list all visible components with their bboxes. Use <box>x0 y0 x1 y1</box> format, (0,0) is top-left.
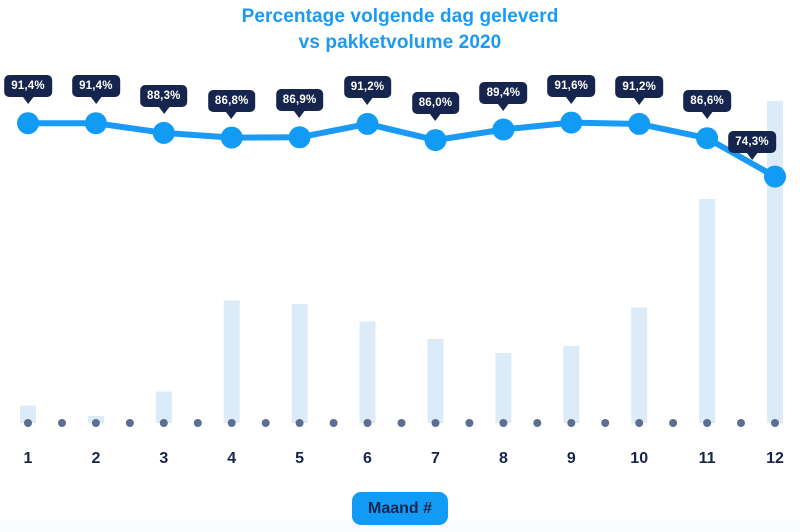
value-badge-4: 86,8% <box>208 90 256 112</box>
x-axis-title-pill[interactable]: Maand # <box>352 492 448 525</box>
x-tick-4: 4 <box>227 450 236 468</box>
value-badge-10: 91,2% <box>615 76 663 98</box>
x-tick-5: 5 <box>295 450 304 468</box>
value-badge-11: 86,6% <box>683 90 731 112</box>
x-tick-1: 1 <box>24 450 33 468</box>
value-badge-1: 91,4% <box>4 75 52 97</box>
x-tick-2: 2 <box>91 450 100 468</box>
value-badge-2: 91,4% <box>72 75 120 97</box>
value-badge-3: 88,3% <box>140 85 188 107</box>
x-tick-7: 7 <box>431 450 440 468</box>
x-axis-tick-labels: 123456789101112 <box>0 450 800 480</box>
data-label-layer: 91,4%91,4%88,3%86,8%86,9%91,2%86,0%89,4%… <box>0 0 800 445</box>
value-badge-9: 91,6% <box>547 75 595 97</box>
chart-canvas: Percentage volgende dag geleverd vs pakk… <box>0 0 800 532</box>
value-badge-6: 91,2% <box>344 76 392 98</box>
x-tick-11: 11 <box>699 450 716 468</box>
x-tick-9: 9 <box>567 450 576 468</box>
x-tick-12: 12 <box>766 450 784 468</box>
value-badge-12: 74,3% <box>728 131 776 153</box>
x-tick-6: 6 <box>363 450 372 468</box>
value-badge-5: 86,9% <box>276 89 324 111</box>
x-tick-10: 10 <box>630 450 648 468</box>
value-badge-8: 89,4% <box>480 82 528 104</box>
x-tick-8: 8 <box>499 450 508 468</box>
value-badge-7: 86,0% <box>412 92 460 114</box>
x-tick-3: 3 <box>159 450 168 468</box>
